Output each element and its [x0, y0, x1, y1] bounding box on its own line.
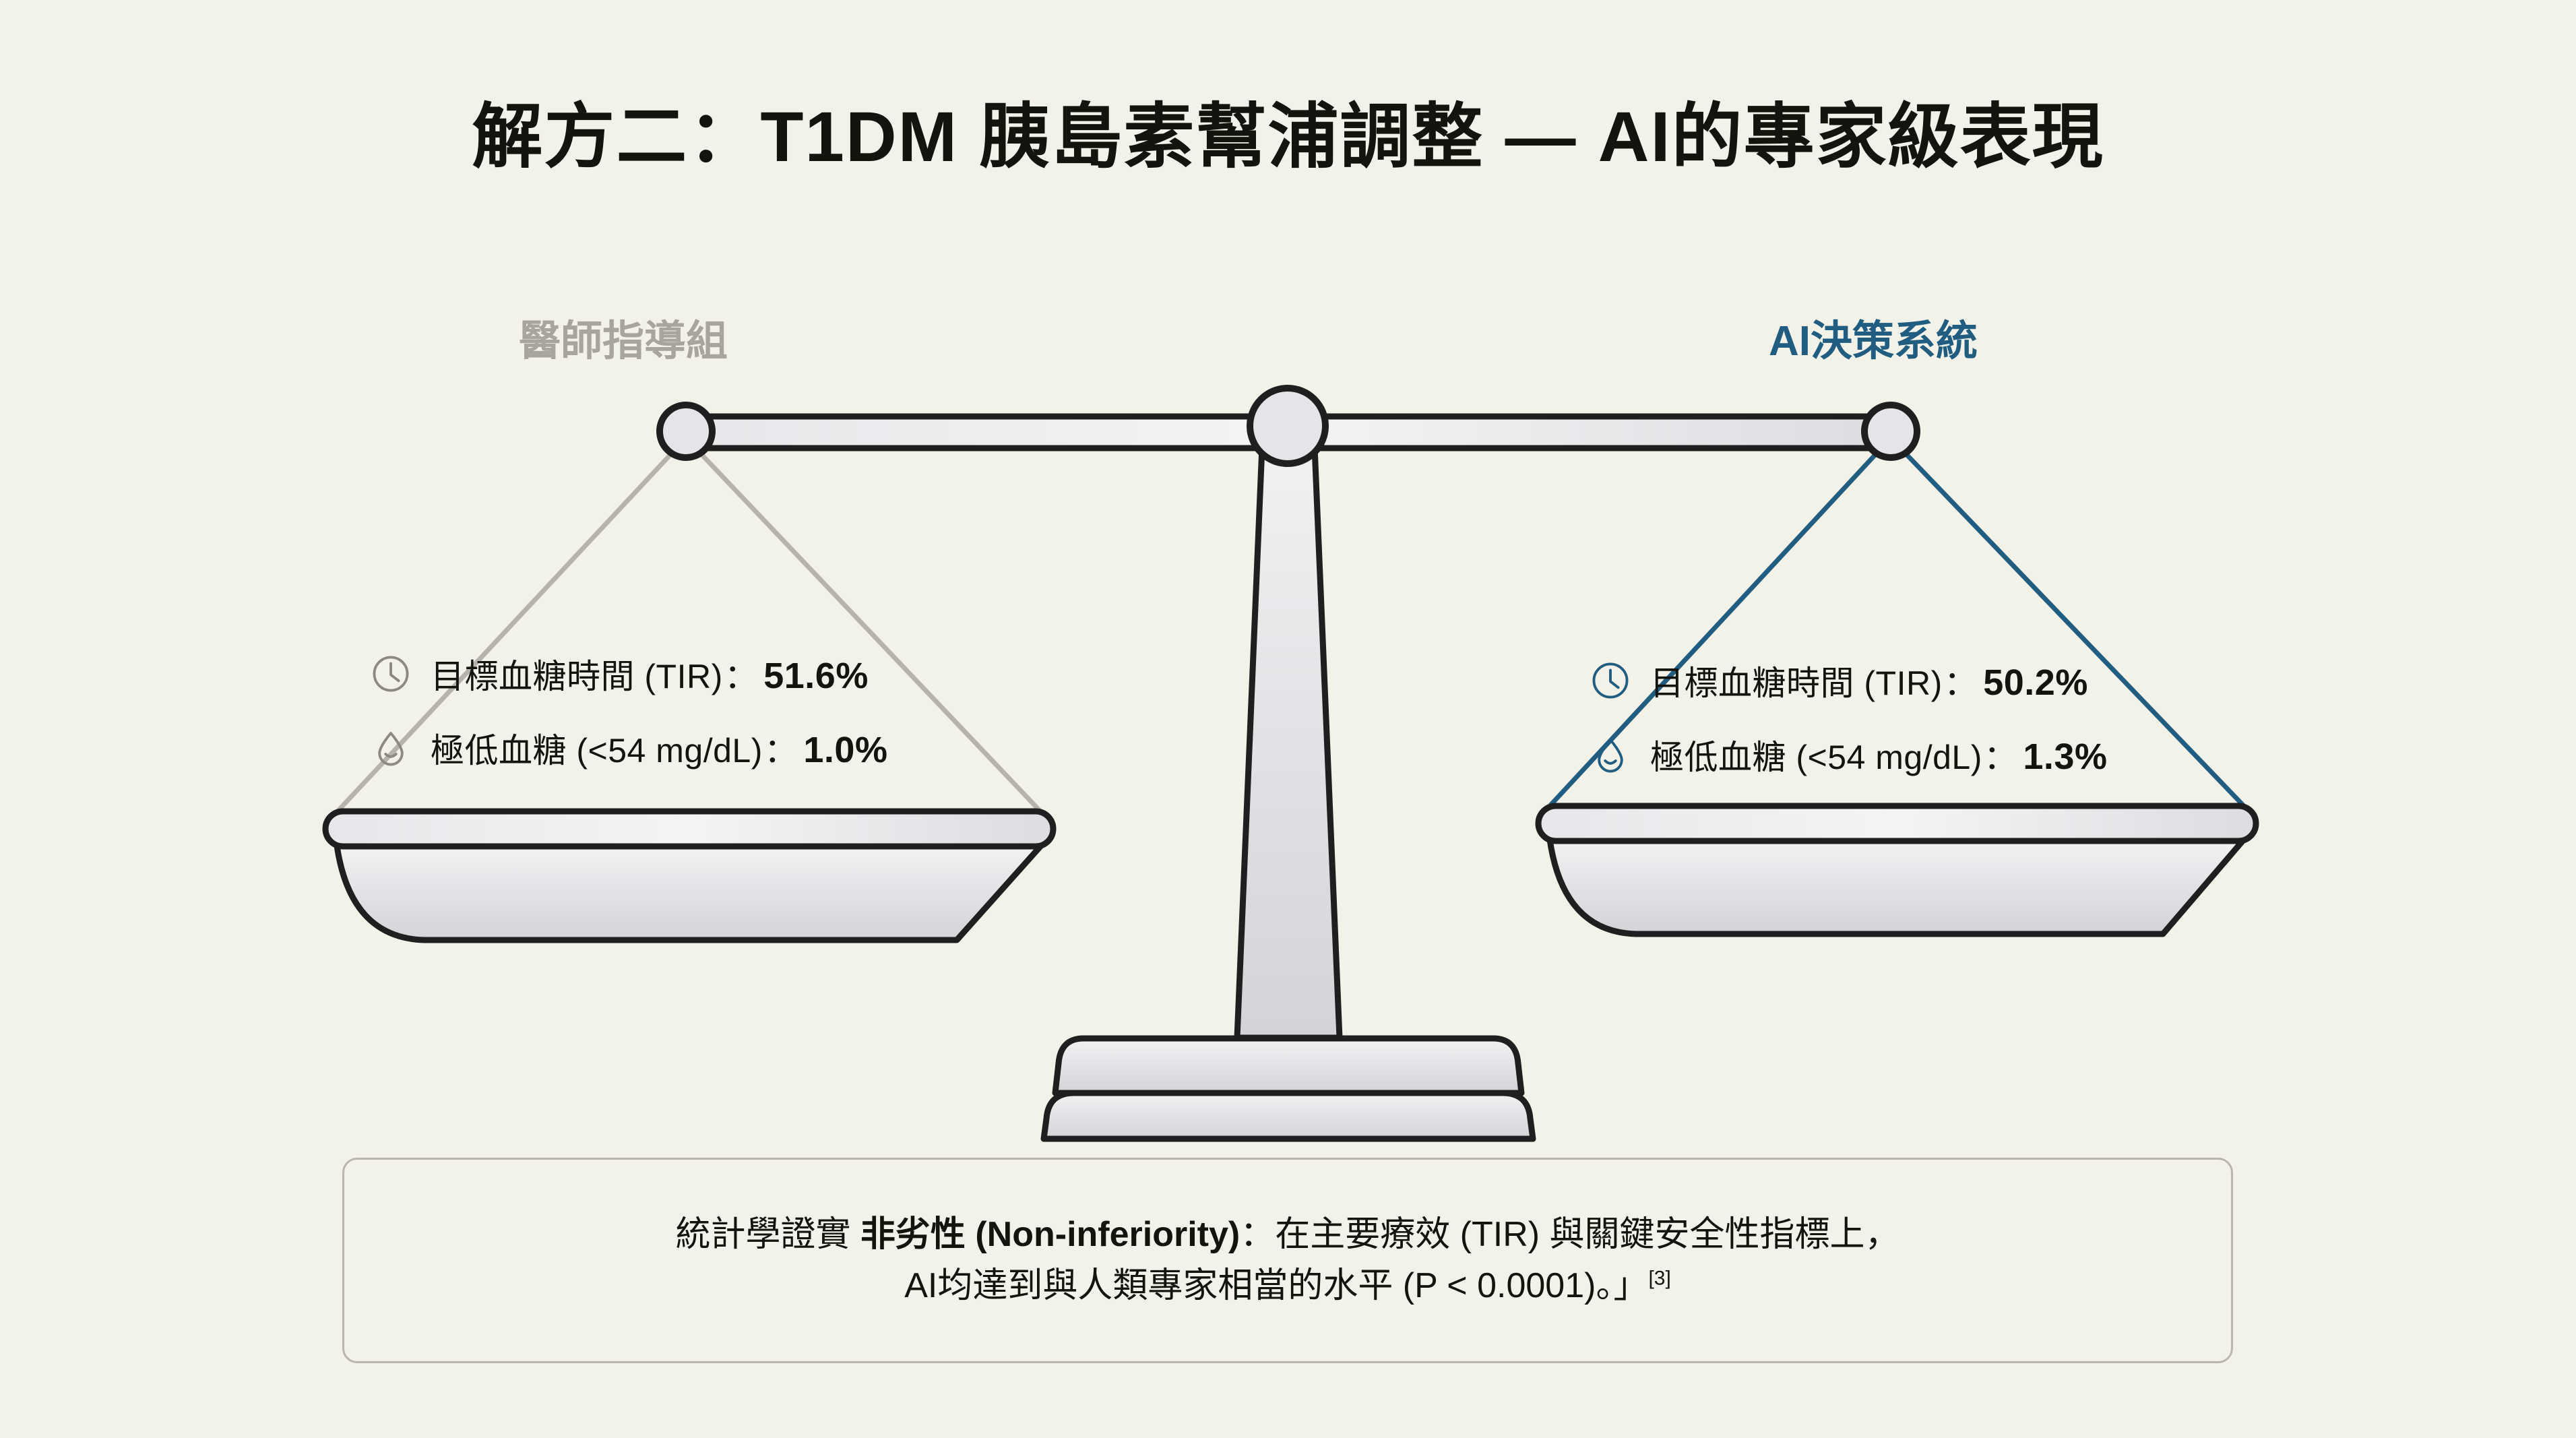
metric-separator: ：: [1982, 730, 2019, 779]
slide-root: 解方二：T1DM 胰島素幫浦調整 — AI的專家級表現 醫師指導組 AI決策系統: [0, 0, 2576, 1438]
pan-right: [1538, 806, 2256, 934]
scale-base: [1044, 1038, 1533, 1139]
metric-text: 目標血糖時間 (TIR) ： 50.2%: [1650, 656, 2088, 705]
metric-name: 極低血糖 (<54 mg/dL): [431, 724, 763, 772]
metric-row: 極低血糖 (<54 mg/dL) ： 1.0%: [367, 711, 887, 785]
conclusion-box: 統計學證實 非劣性 (Non-inferiority)：在主要療效 (TIR) …: [342, 1158, 2233, 1363]
metric-text: 極低血糖 (<54 mg/dL) ： 1.0%: [431, 724, 887, 772]
scale-column: [1237, 431, 1340, 1038]
droplet-icon: [1587, 731, 1634, 778]
conclusion-line-1: 統計學證實 非劣性 (Non-inferiority)：在主要療效 (TIR) …: [675, 1210, 1899, 1260]
metric-row: 目標血糖時間 (TIR) ： 51.6%: [367, 637, 887, 711]
metric-value: 51.6%: [759, 655, 869, 697]
metric-name: 目標血糖時間 (TIR): [1650, 656, 1943, 705]
conclusion-emphasis: 非劣性 (Non-inferiority): [860, 1215, 1240, 1254]
metrics-physician-group: 目標血糖時間 (TIR) ： 51.6% 極低血糖 (<54 mg/dL) ： …: [367, 637, 887, 785]
metric-separator: ：: [763, 724, 800, 772]
clock-icon: [367, 650, 414, 697]
metrics-ai-group: 目標血糖時間 (TIR) ： 50.2% 極低血糖 (<54 mg/dL) ： …: [1587, 644, 2107, 792]
conclusion-prefix: 統計學證實: [675, 1215, 860, 1254]
metric-value: 1.0%: [799, 729, 887, 771]
metric-name: 目標血糖時間 (TIR): [431, 650, 723, 698]
metric-text: 目標血糖時間 (TIR) ： 51.6%: [431, 650, 869, 698]
beam-end-knob-left: [660, 405, 712, 458]
pan-left: [325, 811, 1053, 940]
metric-text: 極低血糖 (<54 mg/dL) ： 1.3%: [1650, 730, 2107, 779]
metric-separator: ：: [1943, 656, 1980, 705]
metric-separator: ：: [723, 650, 760, 698]
beam-end-knob-right: [1864, 405, 1917, 458]
metric-row: 極低血糖 (<54 mg/dL) ： 1.3%: [1587, 718, 2107, 792]
conclusion-line-2: AI均達到與人類專家相當的水平 (P < 0.0001)。」[3]: [904, 1261, 1671, 1311]
metric-value: 1.3%: [2019, 736, 2107, 778]
metric-name: 極低血糖 (<54 mg/dL): [1650, 730, 1982, 779]
clock-icon: [1587, 657, 1634, 704]
conclusion-line2-text: AI均達到與人類專家相當的水平 (P < 0.0001)。」: [904, 1266, 1648, 1305]
metric-row: 目標血糖時間 (TIR) ： 50.2%: [1587, 644, 2107, 718]
droplet-icon: [367, 724, 414, 772]
citation-marker: [3]: [1648, 1267, 1670, 1289]
pivot-knob: [1250, 388, 1325, 464]
metric-value: 50.2%: [1979, 662, 2088, 704]
conclusion-suffix: ：在主要療效 (TIR) 與關鍵安全性指標上，: [1240, 1215, 1899, 1254]
